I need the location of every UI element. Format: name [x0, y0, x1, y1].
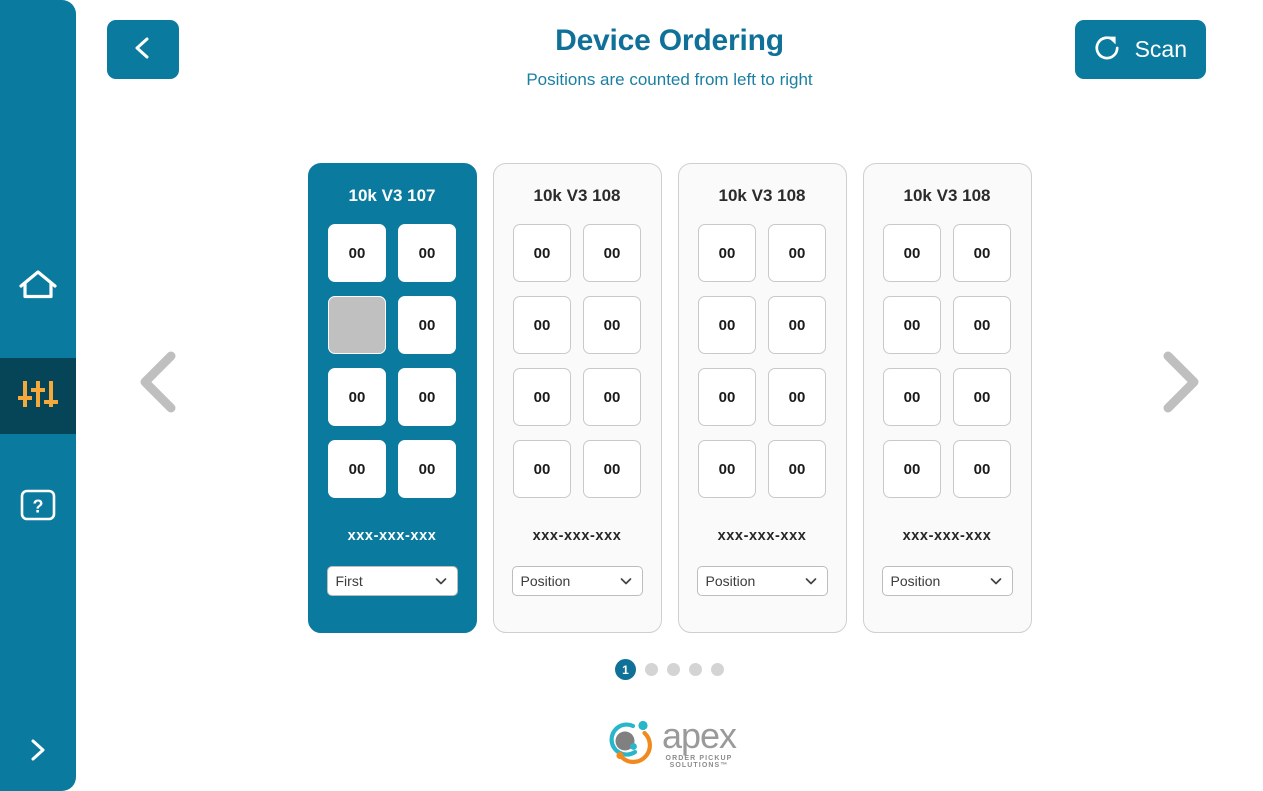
pagination-dot[interactable] [645, 663, 658, 676]
slot-cell[interactable]: 00 [883, 368, 941, 426]
chevron-down-icon [804, 574, 818, 588]
device-card[interactable]: 10k V3 10700000000000000xxx-xxx-xxxFirst [308, 163, 477, 633]
slot-cell[interactable]: 00 [883, 224, 941, 282]
slot-cell[interactable]: 00 [768, 224, 826, 282]
slot-cell[interactable]: 00 [398, 440, 456, 498]
svg-text:?: ? [33, 496, 44, 516]
slot-cell[interactable]: 00 [513, 224, 571, 282]
apex-wordmark: apex ORDER PICKUP SOLUTIONS™ [662, 718, 736, 769]
pagination-dot[interactable] [711, 663, 724, 676]
sidebar-item-help[interactable]: ? [0, 469, 76, 545]
device-serial: xxx-xxx-xxx [718, 528, 807, 544]
chevron-down-icon [434, 574, 448, 588]
slot-cell[interactable]: 00 [583, 296, 641, 354]
slot-cell[interactable]: 00 [328, 224, 386, 282]
sidebar-item-home[interactable] [0, 248, 76, 324]
slot-grid: 0000000000000000 [883, 224, 1011, 498]
chevron-down-icon [619, 574, 633, 588]
pagination: 1 [76, 659, 1263, 680]
sidebar-item-expand[interactable] [0, 714, 76, 790]
slot-cell[interactable]: 00 [328, 440, 386, 498]
slot-cell[interactable]: 00 [953, 368, 1011, 426]
slot-cell[interactable]: 00 [398, 224, 456, 282]
slot-cell[interactable]: 00 [698, 296, 756, 354]
device-serial: xxx-xxx-xxx [533, 528, 622, 544]
slot-cell[interactable]: 00 [583, 224, 641, 282]
logo-tagline: ORDER PICKUP SOLUTIONS™ [666, 755, 733, 769]
slot-cell[interactable]: 00 [953, 440, 1011, 498]
device-card[interactable]: 10k V3 1080000000000000000xxx-xxx-xxxPos… [493, 163, 662, 633]
slot-cell[interactable]: 00 [953, 224, 1011, 282]
slot-cell[interactable]: 00 [513, 368, 571, 426]
slot-cell[interactable]: 00 [583, 440, 641, 498]
position-select-value: First [336, 573, 363, 589]
chevron-left-icon [129, 34, 157, 65]
logo-tagline-line1: ORDER PICKUP [666, 755, 733, 762]
slot-cell[interactable]: 00 [513, 296, 571, 354]
device-card-title: 10k V3 108 [534, 186, 621, 206]
home-icon [18, 267, 58, 306]
slot-cell[interactable]: 00 [768, 440, 826, 498]
position-select[interactable]: First [327, 566, 458, 596]
slot-cell[interactable]: 00 [513, 440, 571, 498]
brand-logo: apex ORDER PICKUP SOLUTIONS™ [76, 716, 1263, 771]
slot-cell[interactable]: 00 [883, 296, 941, 354]
chevron-down-icon [989, 574, 1003, 588]
logo-word: apex [662, 718, 736, 754]
device-card-title: 10k V3 108 [904, 186, 991, 206]
slot-cell[interactable]: 00 [698, 224, 756, 282]
question-icon: ? [18, 485, 58, 530]
device-card-title: 10k V3 108 [719, 186, 806, 206]
sidebar: ? [0, 0, 76, 791]
position-select-value: Position [706, 573, 756, 589]
apex-circle-icon [603, 716, 655, 771]
slot-cell[interactable]: 00 [883, 440, 941, 498]
pagination-dot-active[interactable]: 1 [615, 659, 636, 680]
slot-cell[interactable]: 00 [698, 440, 756, 498]
position-select[interactable]: Position [512, 566, 643, 596]
refresh-icon [1090, 31, 1124, 68]
chevron-right-icon [23, 735, 53, 770]
slot-cell[interactable]: 00 [583, 368, 641, 426]
pagination-dot[interactable] [689, 663, 702, 676]
device-card[interactable]: 10k V3 1080000000000000000xxx-xxx-xxxPos… [678, 163, 847, 633]
back-button[interactable] [107, 20, 179, 79]
device-serial: xxx-xxx-xxx [903, 528, 992, 544]
position-select-value: Position [521, 573, 571, 589]
position-select[interactable]: Position [697, 566, 828, 596]
sidebar-item-config[interactable] [0, 358, 76, 434]
slot-cell[interactable]: 00 [398, 296, 456, 354]
position-select-value: Position [891, 573, 941, 589]
slot-cell-empty[interactable] [328, 296, 386, 354]
slot-cell[interactable]: 00 [398, 368, 456, 426]
slot-cell[interactable]: 00 [953, 296, 1011, 354]
device-card[interactable]: 10k V3 1080000000000000000xxx-xxx-xxxPos… [863, 163, 1032, 633]
device-card-title: 10k V3 107 [349, 186, 436, 206]
device-cards-row: 10k V3 10700000000000000xxx-xxx-xxxFirst… [308, 163, 1032, 633]
slot-cell[interactable]: 00 [328, 368, 386, 426]
pagination-dot[interactable] [667, 663, 680, 676]
device-ordering-screen: ? Device Ordering Positions are counted … [0, 0, 1263, 791]
scan-button[interactable]: Scan [1075, 20, 1206, 79]
device-serial: xxx-xxx-xxx [348, 528, 437, 544]
scan-button-label: Scan [1135, 36, 1187, 63]
slot-grid: 0000000000000000 [513, 224, 641, 498]
slot-grid: 0000000000000000 [698, 224, 826, 498]
sliders-icon [16, 374, 60, 419]
slot-cell[interactable]: 00 [768, 368, 826, 426]
slot-grid: 00000000000000 [328, 224, 456, 498]
slot-cell[interactable]: 00 [768, 296, 826, 354]
device-carousel: 10k V3 10700000000000000xxx-xxx-xxxFirst… [76, 163, 1263, 633]
logo-tagline-line2: SOLUTIONS™ [670, 762, 729, 769]
slot-cell[interactable]: 00 [698, 368, 756, 426]
position-select[interactable]: Position [882, 566, 1013, 596]
